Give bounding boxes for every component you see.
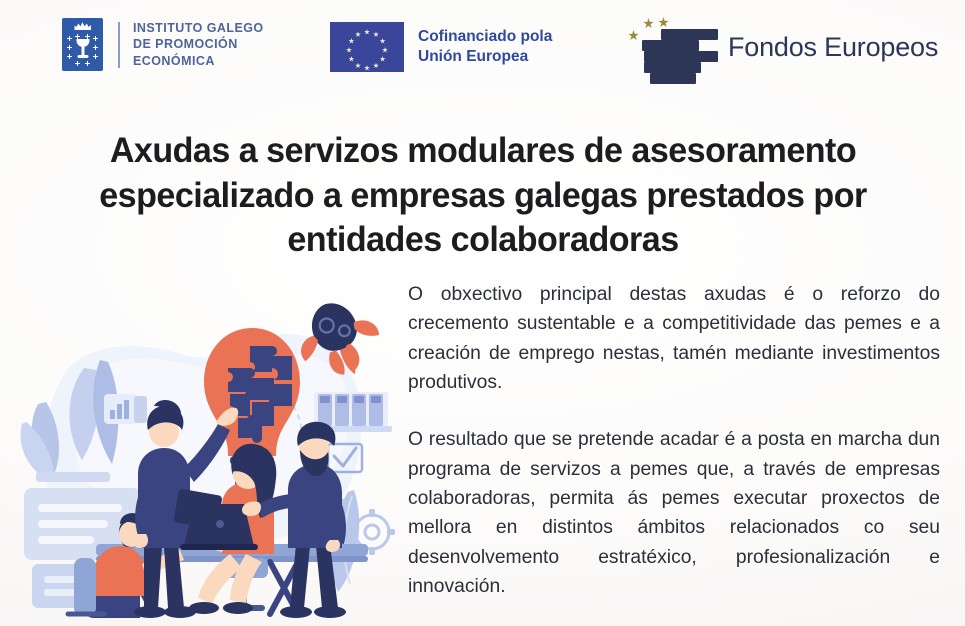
team-collaboration-illustration: [8, 296, 398, 618]
page-title: Axudas a servizos modulares de asesorame…: [56, 128, 910, 262]
logo-fondos-europeos: Fondos Europeos: [620, 16, 938, 78]
eu-wordmark: Cofinanciado pola Unión Europea: [418, 27, 552, 68]
fondos-europeos-wordmark: Fondos Europeos: [728, 32, 938, 63]
igape-wordmark: INSTITUTO GALEGO DE PROMOCIÓN ECONÓMICA: [133, 20, 264, 70]
paragraph-objective: O obxectivo principal destas axudas é o …: [408, 280, 940, 397]
logo-divider: [118, 22, 120, 68]
eu-flag-icon: [330, 22, 404, 72]
logo-igape: INSTITUTO GALEGO DE PROMOCIÓN ECONÓMICA: [62, 18, 264, 71]
poster-page: INSTITUTO GALEGO DE PROMOCIÓN ECONÓMICA …: [0, 0, 965, 626]
fondos-europeos-mark-icon: [620, 16, 718, 78]
body-copy: O obxectivo principal destas axudas é o …: [408, 280, 940, 601]
paragraph-result: O resultado que se pretende acadar é a p…: [408, 425, 940, 601]
logo-bar: INSTITUTO GALEGO DE PROMOCIÓN ECONÓMICA …: [0, 8, 965, 86]
logo-european-union: Cofinanciado pola Unión Europea: [330, 22, 552, 72]
galician-coat-of-arms-icon: [62, 18, 103, 71]
